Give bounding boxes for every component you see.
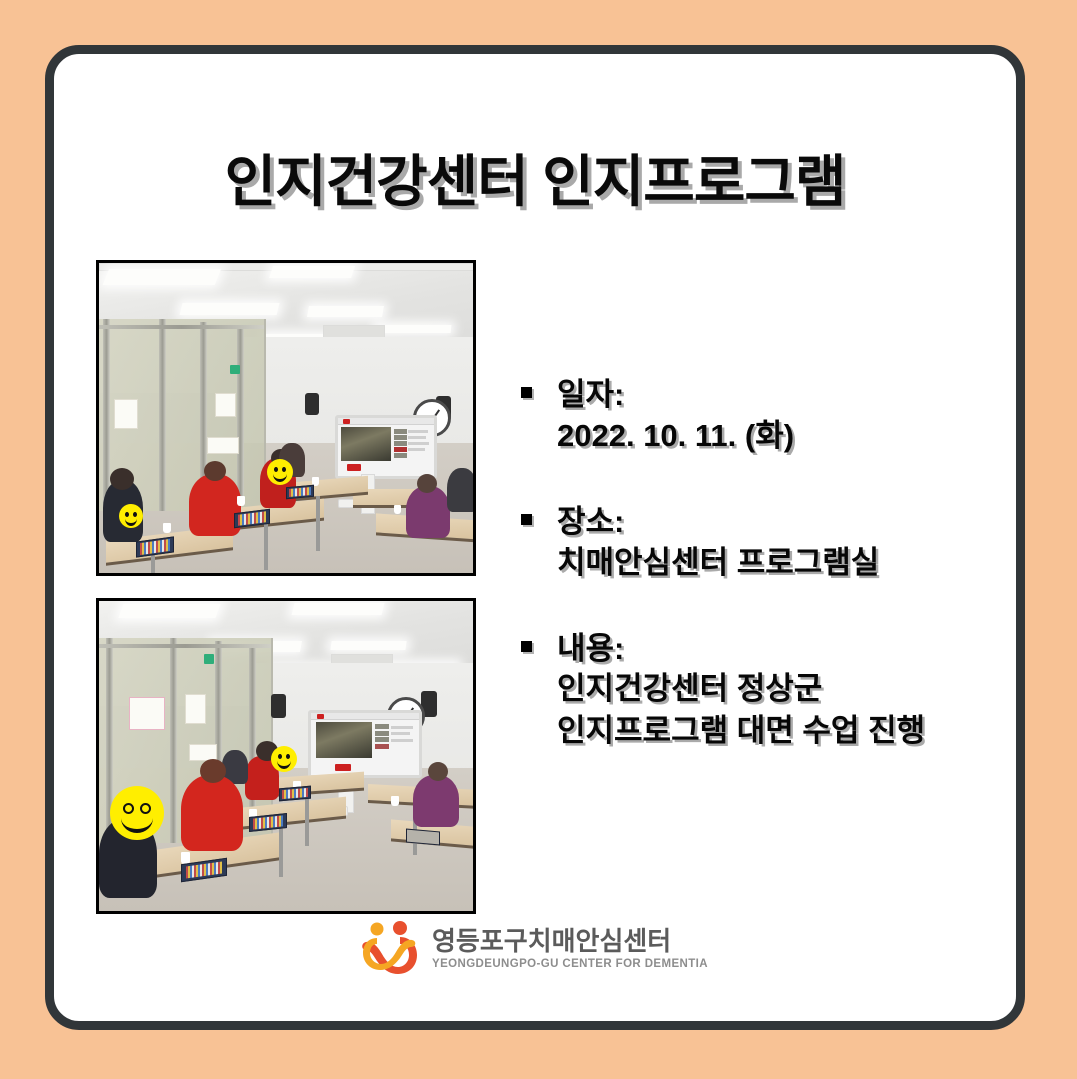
participant-head xyxy=(417,474,437,493)
browser-bar xyxy=(311,713,419,721)
participant xyxy=(406,486,450,538)
face-sticker-smiley xyxy=(267,459,293,485)
wall-notice xyxy=(215,393,236,417)
organization-logo: 영등포구치매안심센터 YEONGDEUNGPO-GU CENTER FOR DE… xyxy=(54,921,1016,977)
ceiling-light xyxy=(119,604,221,618)
ceiling-light xyxy=(375,325,451,333)
face-sticker-smiley xyxy=(271,746,297,772)
video-thumbnail xyxy=(341,427,391,461)
photo-scene-2 xyxy=(99,601,473,911)
colored-pencils xyxy=(252,816,282,830)
sidebar-text xyxy=(408,448,425,451)
exit-sign xyxy=(204,654,214,664)
face-sticker-smiley xyxy=(119,504,143,528)
colored-pencils xyxy=(186,861,223,879)
smiley-eye xyxy=(123,803,134,814)
detail-value: 2022. 10. 11. (화) xyxy=(557,415,1001,456)
smiley-eye xyxy=(140,803,151,814)
poster: 인지건강센터 인지프로그램 xyxy=(0,0,1077,1079)
paper-cup xyxy=(237,496,245,506)
desk-leg xyxy=(279,821,283,877)
sidebar-thumb xyxy=(375,744,389,749)
player-control xyxy=(335,764,351,771)
partition-frame xyxy=(170,638,177,843)
wall-speaker xyxy=(271,694,286,718)
sidebar-thumb xyxy=(394,447,406,452)
photo-scene-1 xyxy=(99,263,473,573)
detail-label: 내용: xyxy=(557,629,1001,669)
wall-notice xyxy=(129,697,165,730)
page-title: 인지건강센터 인지프로그램 xyxy=(54,137,1016,218)
desk-leg xyxy=(264,520,268,570)
participant xyxy=(447,468,473,512)
display-screen xyxy=(335,415,437,479)
participant xyxy=(181,775,243,851)
wall-speaker xyxy=(305,393,319,415)
ceiling-light xyxy=(330,641,406,650)
partition-frame xyxy=(103,319,110,511)
colored-pencils xyxy=(140,539,170,554)
classroom-close-photo xyxy=(96,598,476,914)
logo-name-en: YEONGDEUNGPO-GU CENTER FOR DEMENTIA xyxy=(432,958,708,972)
ceiling-light xyxy=(180,303,280,315)
video-thumbnail xyxy=(316,722,372,758)
face-sticker-smiley-large xyxy=(110,786,164,840)
video-sidebar xyxy=(375,724,416,762)
detail-value: 인지프로그램 대면 수업 진행 xyxy=(557,710,1001,751)
detail-item-content: 내용: 인지건강센터 정상군 인지프로그램 대면 수업 진행 xyxy=(521,629,1001,751)
display-screen xyxy=(308,710,422,778)
participant-head xyxy=(200,759,226,783)
ceiling-light xyxy=(269,266,355,278)
detail-item-date: 일자: 2022. 10. 11. (화) xyxy=(521,375,1001,456)
colored-pencils xyxy=(289,487,311,497)
sidebar-text xyxy=(408,436,426,439)
sidebar-text xyxy=(391,732,411,735)
smiley-mouth xyxy=(273,473,287,483)
sidebar-thumb xyxy=(394,435,406,440)
event-details-list: 일자: 2022. 10. 11. (화) 장소: 치매안심센터 프로그램실 내… xyxy=(521,375,1001,797)
detail-label: 일자: xyxy=(557,375,1001,415)
square-bullet-icon xyxy=(521,387,532,398)
participant xyxy=(413,775,459,827)
wall-notice xyxy=(207,437,239,455)
worksheet xyxy=(279,786,311,802)
browser-logo xyxy=(343,419,350,424)
colored-pencils xyxy=(237,512,266,526)
sidebar-text xyxy=(391,739,413,742)
partition-frame xyxy=(159,319,166,511)
smiley-eye xyxy=(274,467,278,472)
sidebar-text xyxy=(391,726,414,729)
detail-value: 인지건강센터 정상군 xyxy=(557,668,1001,709)
smiley-mouth xyxy=(277,760,291,770)
ceiling-light xyxy=(292,603,385,615)
smiley-eye xyxy=(286,754,290,759)
wall-notice xyxy=(114,399,138,429)
participant-head xyxy=(110,468,134,490)
paper-cup xyxy=(391,796,399,806)
browser-logo xyxy=(317,714,324,719)
smiley-mouth xyxy=(125,516,137,525)
smiley-eye xyxy=(282,467,286,472)
paper-cup xyxy=(394,505,401,514)
logo-name-kr: 영등포구치매안심센터 xyxy=(432,927,671,956)
detail-text: 내용: 인지건강센터 정상군 인지프로그램 대면 수업 진행 xyxy=(521,629,1001,751)
participant xyxy=(189,474,241,536)
partition-frame xyxy=(99,644,271,648)
sidebar-thumb xyxy=(375,724,389,729)
screen-content xyxy=(338,418,434,476)
classroom-wide-photo xyxy=(96,260,476,576)
partition-frame xyxy=(249,644,256,830)
detail-value: 치매안심센터 프로그램실 xyxy=(557,542,1001,583)
square-bullet-icon xyxy=(521,641,532,652)
square-bullet-icon xyxy=(521,514,532,525)
ceiling-light xyxy=(103,269,221,285)
player-control xyxy=(347,464,361,471)
colored-pencils xyxy=(282,788,307,799)
exit-sign xyxy=(230,365,240,374)
poster-card: 인지건강센터 인지프로그램 xyxy=(45,45,1025,1030)
detail-text: 장소: 치매안심센터 프로그램실 xyxy=(521,502,1001,583)
sidebar-thumb xyxy=(394,453,406,458)
detail-label: 장소: xyxy=(557,502,1001,542)
screen-content xyxy=(311,713,419,775)
participant-head xyxy=(204,461,226,481)
sidebar-thumb xyxy=(394,441,406,446)
dementia-center-logo-icon xyxy=(362,921,420,977)
detail-text: 일자: 2022. 10. 11. (화) xyxy=(521,375,1001,456)
paper-cup xyxy=(163,523,171,533)
video-sidebar xyxy=(394,428,430,464)
sidebar-text xyxy=(408,442,428,445)
browser-bar xyxy=(338,418,434,425)
ceiling-light xyxy=(308,306,385,317)
partition-frame xyxy=(237,328,244,505)
wall-notice xyxy=(185,694,206,724)
partition-frame xyxy=(99,325,264,329)
sidebar-text xyxy=(408,430,428,433)
smiley-mouth xyxy=(121,815,153,833)
smiley-eye xyxy=(278,754,282,759)
sidebar-thumb xyxy=(375,731,389,736)
sidebar-thumb xyxy=(394,429,406,434)
logo-text-block: 영등포구치매안심센터 YEONGDEUNGPO-GU CENTER FOR DE… xyxy=(432,927,708,972)
sidebar-thumb xyxy=(375,737,389,742)
desk-leg xyxy=(316,496,320,552)
detail-item-location: 장소: 치매안심센터 프로그램실 xyxy=(521,502,1001,583)
